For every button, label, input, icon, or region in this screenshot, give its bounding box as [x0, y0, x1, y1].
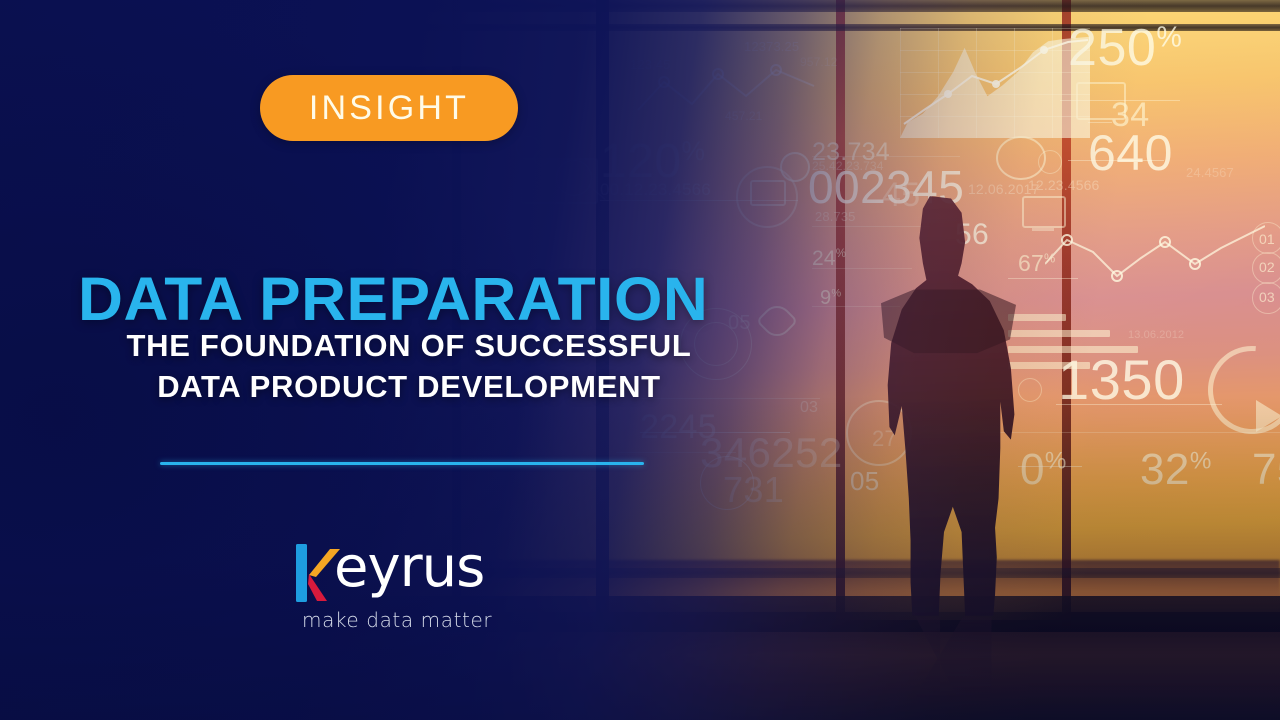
keyrus-wordmark: eyrus — [334, 540, 484, 596]
page-subtitle-line1: THE FOUNDATION OF SUCCESSFUL — [127, 328, 692, 363]
page-subtitle: THE FOUNDATION OF SUCCESSFUL DATA PRODUC… — [64, 326, 754, 408]
keyrus-tagline: make data matter — [302, 608, 492, 632]
page-title: DATA PREPARATION — [78, 269, 708, 330]
insight-banner: 250%3464012373.25123.45457.21957.12120%0… — [0, 0, 1280, 720]
insight-badge-label: INSIGHT — [309, 89, 469, 128]
insight-badge: INSIGHT — [260, 75, 518, 141]
page-subtitle-line2: DATA PRODUCT DEVELOPMENT — [64, 367, 754, 408]
keyrus-logo: eyrus make data matter — [296, 540, 496, 640]
title-divider-rule — [160, 462, 644, 465]
